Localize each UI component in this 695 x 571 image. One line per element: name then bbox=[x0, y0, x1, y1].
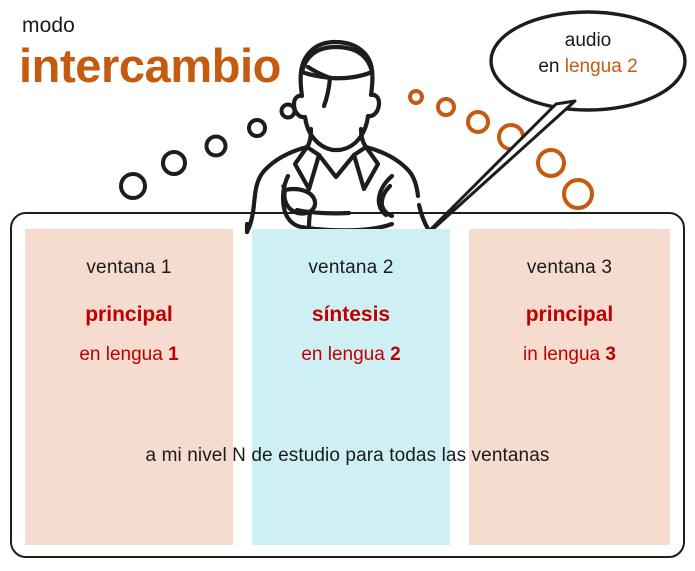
bubble-trail-right bbox=[410, 91, 592, 208]
window-1-name: ventana 1 bbox=[25, 258, 233, 277]
window-column-2-content: ventana 2 síntesis en lengua 2 bbox=[252, 258, 450, 364]
window-column-1-content: ventana 1 principal en lengua 1 bbox=[25, 258, 233, 364]
window-1-role: principal bbox=[25, 304, 233, 325]
window-column-1[interactable]: ventana 1 principal en lengua 1 bbox=[25, 229, 233, 545]
speech-bubble-line-2: en lengua 2 bbox=[500, 54, 676, 80]
speech-bubble-text: audio en lengua 2 bbox=[500, 28, 676, 79]
speech-bubble-line-2-prefix: en bbox=[538, 56, 564, 77]
window-3-language: in lengua 3 bbox=[469, 345, 670, 364]
bubble-trail-left bbox=[121, 105, 295, 199]
window-2-language-number: 2 bbox=[390, 344, 401, 365]
speech-bubble-line-1: audio bbox=[500, 28, 676, 54]
page-title: intercambio bbox=[19, 42, 281, 89]
footer-note: a mi nivel N de estudio para todas las v… bbox=[0, 446, 695, 465]
window-2-language: en lengua 2 bbox=[252, 345, 450, 364]
window-1-language-prefix: en lengua bbox=[79, 344, 168, 365]
window-column-3-content: ventana 3 principal in lengua 3 bbox=[469, 258, 670, 364]
window-2-name: ventana 2 bbox=[252, 258, 450, 277]
window-2-role: síntesis bbox=[252, 304, 450, 325]
window-3-language-prefix: in lengua bbox=[523, 344, 605, 365]
window-2-language-prefix: en lengua bbox=[301, 344, 390, 365]
speech-bubble-line-2-accent: lengua 2 bbox=[565, 56, 638, 77]
window-3-name: ventana 3 bbox=[469, 258, 670, 277]
mode-kicker-label: modo bbox=[22, 14, 75, 38]
window-3-language-number: 3 bbox=[605, 344, 616, 365]
window-1-language: en lengua 1 bbox=[25, 345, 233, 364]
window-3-role: principal bbox=[469, 304, 670, 325]
window-1-language-number: 1 bbox=[168, 344, 179, 365]
window-column-2[interactable]: ventana 2 síntesis en lengua 2 bbox=[252, 229, 450, 545]
diagram-canvas: modo intercambio bbox=[0, 0, 695, 571]
window-column-3[interactable]: ventana 3 principal in lengua 3 bbox=[469, 229, 670, 545]
